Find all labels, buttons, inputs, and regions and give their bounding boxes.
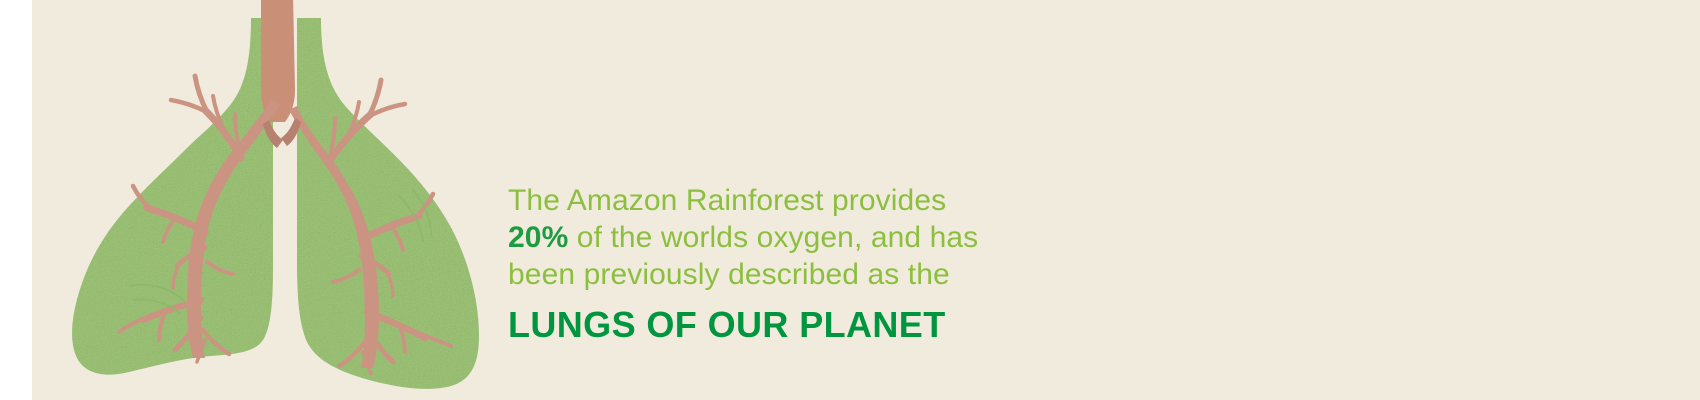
body-line-1: The Amazon Rainforest provides xyxy=(508,182,1048,219)
body-line-3: been previously described as the xyxy=(508,256,1048,293)
right-lung-lobe xyxy=(297,18,479,389)
infographic-poster: The Amazon Rainforest provides 20% of th… xyxy=(0,0,1700,400)
body-line-2: 20% of the worlds oxygen, and has xyxy=(508,219,1048,256)
green-lungs-icon xyxy=(55,0,495,400)
oxygen-percentage: 20% xyxy=(508,221,568,254)
left-lung-lobe xyxy=(72,18,273,375)
headline: LUNGS OF OUR PLANET xyxy=(508,304,1048,346)
statistic-text-block: The Amazon Rainforest provides 20% of th… xyxy=(508,182,1048,346)
body-line-2-rest: of the worlds oxygen, and has xyxy=(568,221,978,254)
